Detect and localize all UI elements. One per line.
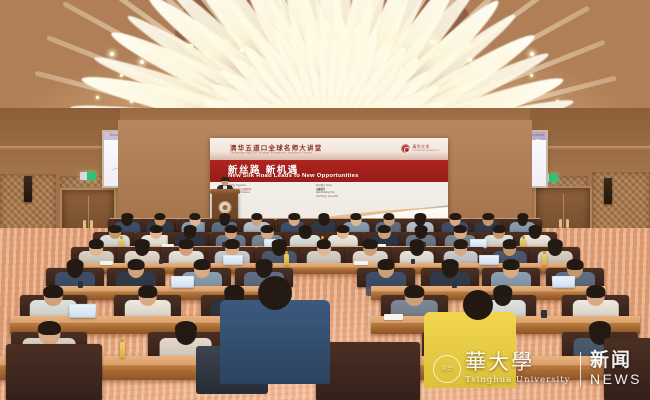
attendee-hair <box>225 239 240 248</box>
water-bottle <box>284 254 289 264</box>
ceiling-downlight <box>500 60 504 64</box>
ceiling-downlight <box>290 80 293 83</box>
attendee-hair <box>224 285 243 298</box>
attendee-hair <box>225 225 238 233</box>
ceiling-downlight <box>452 76 455 79</box>
smartphone <box>159 259 163 264</box>
ceiling-panel-light <box>466 44 473 48</box>
attendee-hair <box>219 213 230 220</box>
ceiling-downlight <box>172 58 176 62</box>
laptop <box>552 276 576 288</box>
attendee-hair <box>363 239 378 248</box>
attendee-hair <box>44 285 63 298</box>
attendee-hair <box>517 213 528 220</box>
ceiling-panel-light <box>330 34 337 38</box>
ceiling-panel-light <box>386 36 393 40</box>
ceiling-downlight <box>400 68 404 72</box>
ceiling-panel-light <box>500 56 507 60</box>
banner-logo-text: 清华大学 TSINGHUA UNIVERSITY <box>412 145 440 152</box>
wall-trim-left <box>0 146 120 150</box>
laptop <box>68 304 96 318</box>
ceiling-downlight <box>265 78 268 81</box>
ceiling-downlight <box>468 58 472 62</box>
attendee-hair <box>179 239 194 248</box>
attendee-hair <box>586 285 605 298</box>
ceiling-downlight <box>360 80 363 83</box>
attendee-hair <box>122 213 133 220</box>
attendee-hair <box>548 239 563 248</box>
attendee-hair <box>454 225 467 233</box>
smartphone <box>541 310 547 318</box>
ceiling-downlight <box>160 80 163 83</box>
attendee-hair <box>299 225 312 233</box>
ceiling-downlight <box>250 68 254 72</box>
attendee-hair <box>441 259 458 270</box>
ceiling-downlight <box>96 96 99 99</box>
ceiling-downlight <box>520 96 523 99</box>
ceiling-panel-light <box>150 56 157 60</box>
chair-back-foreground <box>6 344 102 400</box>
ceiling-downlight <box>240 48 244 52</box>
university-emblem-icon <box>220 202 231 213</box>
ceiling-downlight <box>120 74 123 77</box>
attendee-hair <box>483 213 494 220</box>
laptop <box>171 276 195 288</box>
ceiling-panel-light <box>268 36 275 40</box>
attendee-hair <box>453 239 468 248</box>
attendee-body-foreground-right <box>424 312 516 388</box>
smartphone <box>452 281 457 288</box>
attendee-hair <box>194 259 211 270</box>
attendee-hair <box>404 285 423 298</box>
attendee-hair <box>189 213 200 220</box>
attendee-hair <box>378 225 391 233</box>
ceiling-downlight <box>200 76 203 79</box>
banner-col2-line1: 时间地点 Venue <box>316 185 332 187</box>
ceiling-downlight <box>300 62 304 66</box>
ceiling-panel-light <box>222 40 229 44</box>
attendee-hair <box>154 213 165 220</box>
ceiling-downlight <box>492 80 495 83</box>
photo-scene: New Silk Road Leads to New Opportunities… <box>0 0 650 400</box>
attendee-hair <box>350 213 361 220</box>
attendee-hair <box>415 225 428 233</box>
exit-sign-left <box>80 172 96 180</box>
banner-university-logo: 清华大学 TSINGHUA UNIVERSITY <box>401 144 440 153</box>
ceiling-downlight <box>556 100 559 103</box>
chair-back-foreground <box>604 338 650 400</box>
attendee-hair <box>502 239 517 248</box>
attendee-hair <box>567 259 584 270</box>
attendee-hair <box>503 259 520 270</box>
stage-banner: 清华五道口全球名师大讲堂 Tsinghua PBCSF Global Acade… <box>210 138 448 220</box>
ceiling-downlight <box>530 52 534 56</box>
attendee-hair <box>150 225 163 233</box>
university-seal-icon <box>401 144 410 153</box>
banner-body: 主办单位 Organizer 清华大学五道口金融学院 PBC School of… <box>210 182 448 220</box>
attendee-head-foreground <box>258 276 292 310</box>
attendee-hair <box>318 213 329 220</box>
banner-header-en: Tsinghua PBCSF Global Academic Leaders F… <box>230 151 313 155</box>
ceiling-downlight <box>386 78 389 81</box>
ceiling-downlight <box>436 52 440 56</box>
notebook <box>354 261 367 265</box>
attendee-hair <box>493 285 512 298</box>
water-bottle <box>542 254 547 264</box>
notebook <box>384 314 402 320</box>
attendee-hair <box>128 259 145 270</box>
attendee-hair <box>272 239 287 248</box>
attendee-hair <box>410 239 425 248</box>
ceiling-downlight <box>110 52 114 56</box>
ceiling-downlight <box>205 52 209 56</box>
attendee-body-foreground <box>220 300 330 384</box>
banner-logo-en: TSINGHUA UNIVERSITY <box>412 150 440 152</box>
attendee-hair <box>450 213 461 220</box>
chair-back-foreground <box>316 342 420 400</box>
wall-speaker-right <box>604 178 612 204</box>
ceiling-downlight <box>530 74 533 77</box>
attendee-hair <box>108 225 121 233</box>
attendee-hair <box>529 225 542 233</box>
attendee-hair <box>174 321 196 335</box>
attendee-hair <box>135 239 150 248</box>
presenter-hair <box>221 177 229 181</box>
attendee-hair <box>255 259 272 270</box>
banner-logo-cn: 清华大学 <box>412 145 440 149</box>
attendee-head-foreground-right <box>463 290 493 320</box>
attendee-hair <box>184 225 197 233</box>
ceiling-downlight <box>140 60 144 64</box>
laptop <box>479 255 499 265</box>
ceiling-panel-light <box>186 44 193 48</box>
attendee-hair <box>415 213 426 220</box>
water-bottle <box>120 342 125 359</box>
attendee-hair <box>589 321 611 335</box>
attendee-hair <box>317 239 332 248</box>
attendee-hair <box>493 225 506 233</box>
attendee-hair <box>337 225 350 233</box>
smartphone <box>78 281 83 288</box>
wall-trim-right <box>530 146 650 150</box>
ceiling-panel-light <box>430 40 437 44</box>
door-knob-right-a <box>559 219 562 228</box>
attendee-hair <box>383 213 394 220</box>
wall-speaker-left <box>24 176 32 202</box>
ceiling-downlight <box>300 45 304 49</box>
banner-title-en: New Silk Road Leads to New Opportunities <box>228 173 359 179</box>
attendee-hair <box>138 285 157 298</box>
attendee-hair <box>89 239 104 248</box>
ceiling-downlight <box>350 62 354 66</box>
lectern-top <box>210 189 240 194</box>
attendee-hair <box>67 259 84 270</box>
attendee-hair <box>378 259 395 270</box>
attendee-hair <box>261 225 274 233</box>
door-knob-right-b <box>566 219 569 228</box>
banner-header: 清华五道口全球名师大讲堂 Tsinghua PBCSF Global Acade… <box>210 138 448 160</box>
attendee-hair <box>38 321 60 335</box>
banner-header-cn: 清华五道口全球名师大讲堂 <box>230 142 322 152</box>
laptop <box>222 255 242 265</box>
attendee-hair <box>289 213 300 220</box>
ceiling-downlight <box>130 100 133 103</box>
ceiling-downlight <box>400 48 404 52</box>
banner-title-band: 新丝路 新机遇 New Silk Road Leads to New Oppor… <box>210 160 448 182</box>
ceiling-downlight <box>345 45 349 49</box>
smartphone <box>411 259 415 264</box>
attendee-hair <box>251 213 262 220</box>
notebook <box>100 261 113 265</box>
